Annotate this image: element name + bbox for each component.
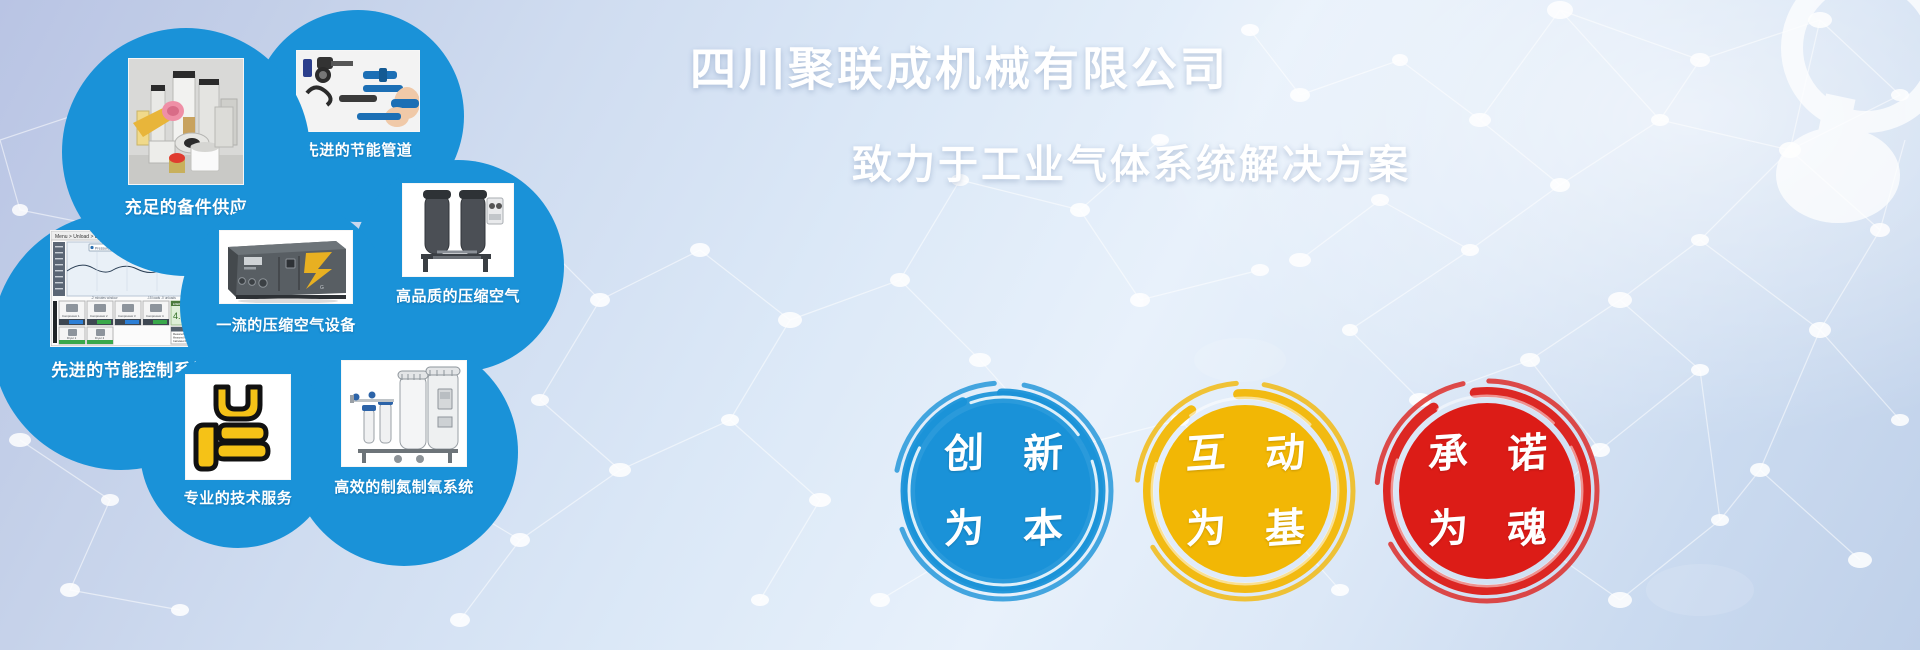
slogan-stamps: 创 新 为 本 互 动 为 基 <box>884 372 1604 632</box>
headline-block: 四川聚联成机械有限公司 致力于工业气体系统解决方案 <box>690 44 1411 187</box>
stamp-char: 为 <box>943 507 984 550</box>
stamp-interaction-chars: 互 动 为 基 <box>1126 372 1364 610</box>
stamp-char: 基 <box>1264 507 1305 550</box>
svg-text:Dryer 1: Dryer 1 <box>67 336 77 340</box>
product-label-service: 专业的技术服务 <box>184 487 293 508</box>
svg-text:-2 minutes window: -2 minutes window <box>91 296 118 300</box>
svg-text:Compressor 2: Compressor 2 <box>90 314 108 318</box>
filter-elements-photo <box>128 58 244 185</box>
stamp-char: 为 <box>1427 507 1468 550</box>
product-circle-service[interactable]: 专业的技术服务 <box>140 352 336 548</box>
product-label-compressor: 一流的压缩空气设备 <box>216 314 356 335</box>
stamp-interaction[interactable]: 互 动 为 基 <box>1126 372 1364 610</box>
stamp-char: 新 <box>1022 432 1063 475</box>
page-title: 四川聚联成机械有限公司 <box>690 44 1411 95</box>
stamp-char: 为 <box>1185 507 1226 550</box>
desiccant-dryer-photo <box>402 183 514 277</box>
nitrogen-oxygen-plant-photo <box>341 360 467 467</box>
product-label-nitrogen: 高效的制氮制氧系统 <box>334 476 474 497</box>
screw-compressor-photo: G <box>219 230 353 304</box>
stamp-char: 创 <box>943 432 984 475</box>
page-subtitle: 致力于工业气体系统解决方案 <box>852 143 1411 187</box>
stamp-char: 魂 <box>1506 507 1547 550</box>
svg-text:Compressor 1: Compressor 1 <box>62 314 80 318</box>
stamp-char: 诺 <box>1506 432 1547 475</box>
piping-tools-photo <box>296 50 420 132</box>
svg-text:G: G <box>320 285 324 291</box>
stamp-char: 承 <box>1427 432 1468 475</box>
stamp-commitment-chars: 承 诺 为 魂 <box>1368 372 1606 610</box>
stamp-char: 互 <box>1185 432 1226 475</box>
stamp-innovation[interactable]: 创 新 为 本 <box>884 372 1122 610</box>
svg-text:Compressor 3: Compressor 3 <box>118 314 136 318</box>
svg-text:Dryer 2: Dryer 2 <box>95 336 105 340</box>
promotional-banner: 充足的备件供应 先进的节能管道 <box>0 0 1920 650</box>
stamp-commitment[interactable]: 承 诺 为 魂 <box>1368 372 1606 610</box>
svg-text:Compressor 4: Compressor 4 <box>146 314 164 318</box>
svg-text:-15 loads -0 unloads: -15 loads -0 unloads <box>147 296 176 300</box>
stamp-innovation-chars: 创 新 为 本 <box>884 372 1122 610</box>
product-label-pipe: 先进的节能管道 <box>304 139 413 160</box>
product-label-air: 高品质的压缩空气 <box>396 285 520 306</box>
thumbs-up-wrench-logo <box>185 374 291 480</box>
stamp-char: 动 <box>1264 432 1305 475</box>
stamp-char: 本 <box>1022 507 1063 550</box>
product-label-parts: 充足的备件供应 <box>125 193 248 218</box>
